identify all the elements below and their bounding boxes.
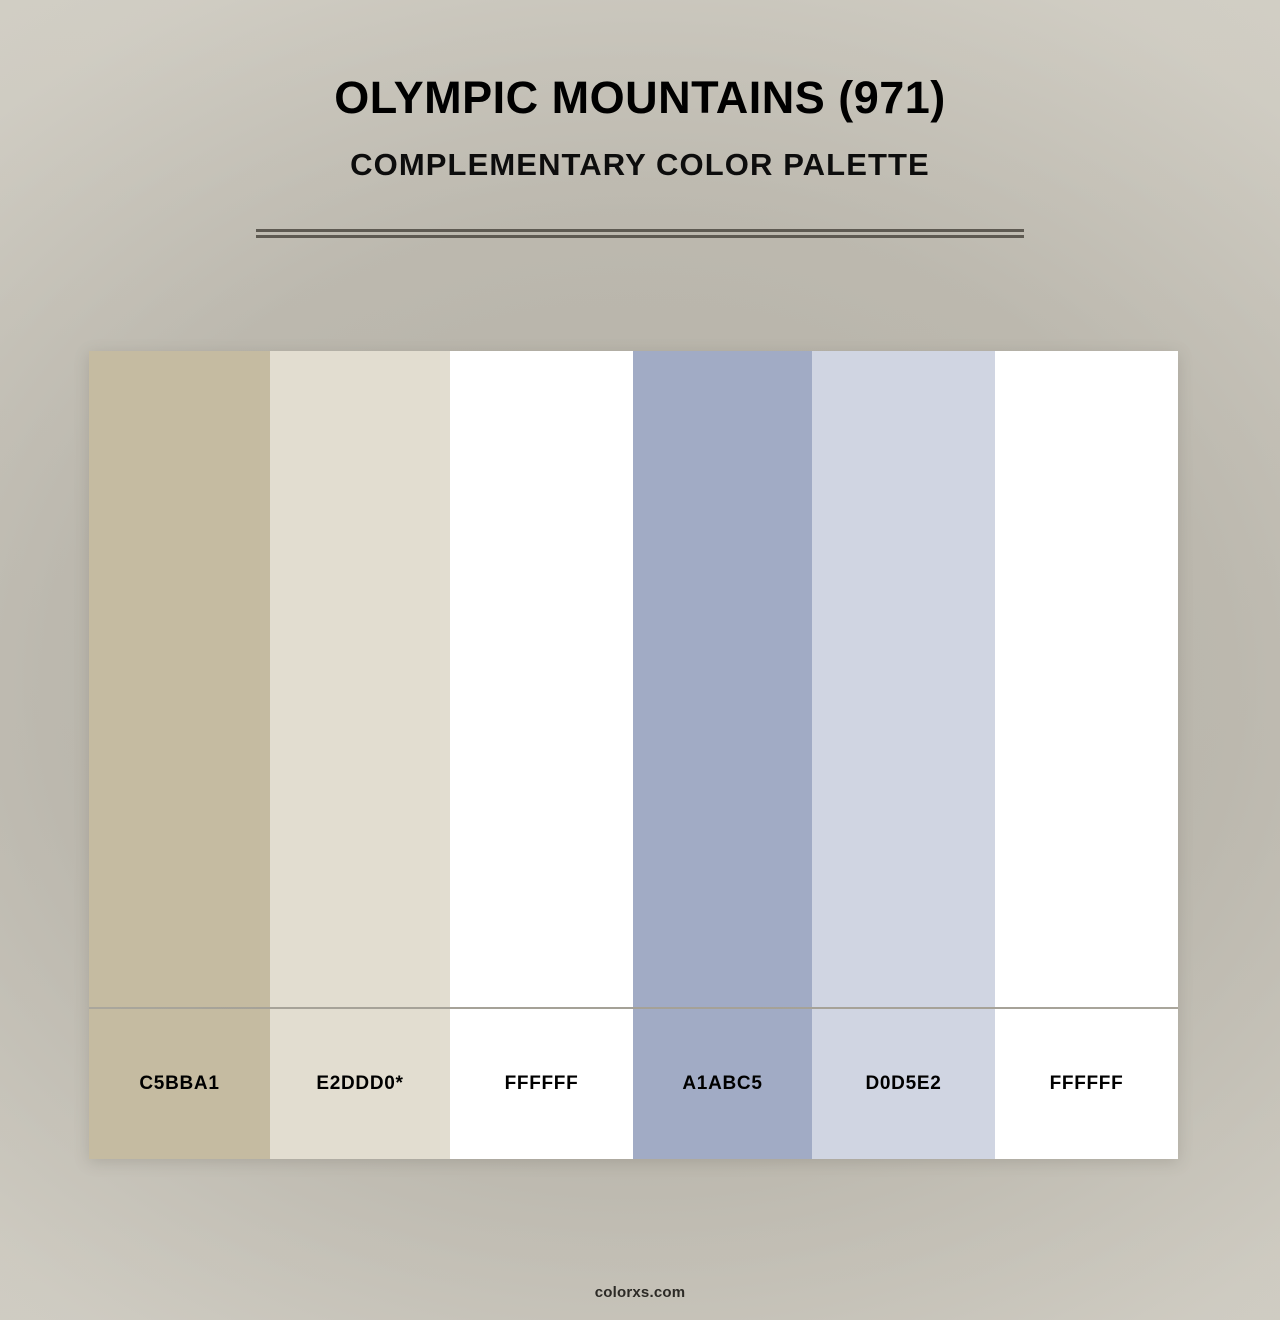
page-background: OLYMPIC MOUNTAINS (971) COMPLEMENTARY CO… — [0, 0, 1280, 1320]
footer: colorxs.com — [0, 1284, 1280, 1302]
color-swatch-fill[interactable] — [270, 351, 450, 1007]
color-swatch-column[interactable]: FFFFFF — [450, 351, 633, 1159]
color-hex-label: FFFFFF — [1050, 1073, 1124, 1095]
color-swatch-label-strip[interactable]: FFFFFF — [995, 1009, 1178, 1159]
color-swatch-label-strip[interactable]: D0D5E2 — [812, 1009, 995, 1159]
color-swatch-column[interactable]: C5BBA1 — [89, 351, 270, 1159]
color-hex-label: E2DDD0* — [316, 1073, 403, 1095]
color-swatch-column[interactable]: FFFFFF — [995, 351, 1178, 1159]
color-swatch-column[interactable]: E2DDD0* — [270, 351, 450, 1159]
divider-line-bottom — [256, 235, 1024, 238]
color-swatch-fill[interactable] — [450, 351, 633, 1007]
divider-line-top — [256, 229, 1024, 232]
color-swatch-label-strip[interactable]: C5BBA1 — [89, 1009, 270, 1159]
color-swatch-fill[interactable] — [89, 351, 270, 1007]
color-swatch-label-strip[interactable]: A1ABC5 — [633, 1009, 812, 1159]
color-hex-label: FFFFFF — [505, 1073, 579, 1095]
color-swatch-column[interactable]: D0D5E2 — [812, 351, 995, 1159]
color-hex-label: A1ABC5 — [682, 1073, 762, 1095]
page-title: OLYMPIC MOUNTAINS (971) — [0, 0, 1280, 124]
page-subtitle: COMPLEMENTARY COLOR PALETTE — [0, 124, 1280, 183]
color-swatch-fill[interactable] — [812, 351, 995, 1007]
color-swatch-fill[interactable] — [995, 351, 1178, 1007]
color-hex-label: D0D5E2 — [865, 1073, 941, 1095]
header-divider-rule — [256, 229, 1024, 238]
color-hex-label: C5BBA1 — [139, 1073, 219, 1095]
color-swatch-label-strip[interactable]: FFFFFF — [450, 1009, 633, 1159]
color-palette-board: C5BBA1E2DDD0*FFFFFFA1ABC5D0D5E2FFFFFF — [89, 351, 1178, 1159]
header: OLYMPIC MOUNTAINS (971) COMPLEMENTARY CO… — [0, 0, 1280, 183]
color-swatch-column[interactable]: A1ABC5 — [633, 351, 812, 1159]
footer-site-name: colorxs.com — [595, 1284, 686, 1301]
color-swatch-label-strip[interactable]: E2DDD0* — [270, 1009, 450, 1159]
color-swatch-fill[interactable] — [633, 351, 812, 1007]
